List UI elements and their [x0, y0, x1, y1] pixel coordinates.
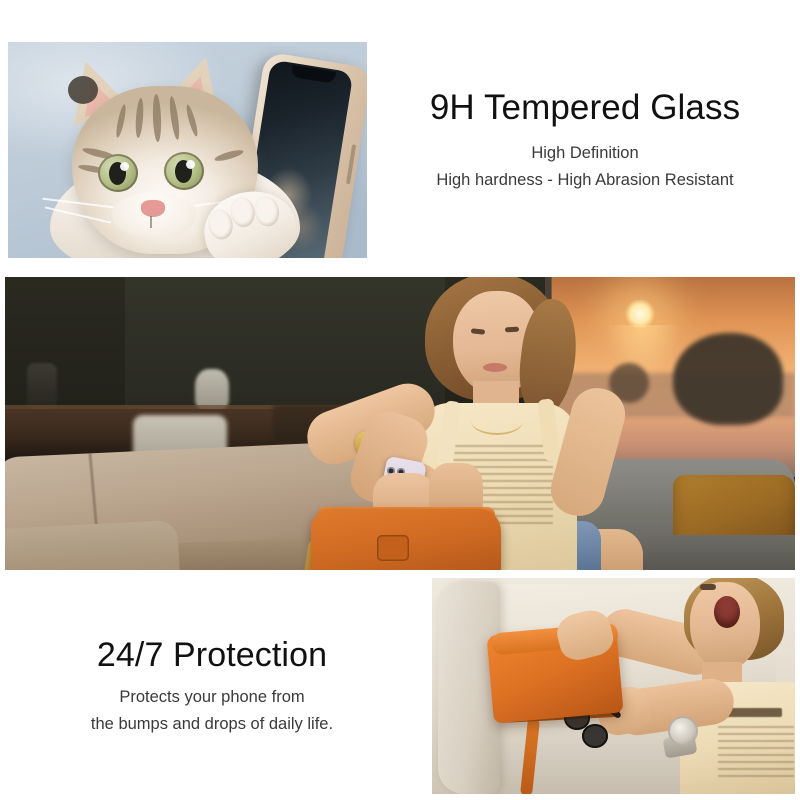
protection-headline: 24/7 Protection: [22, 636, 402, 674]
woman-open-mouth: [714, 596, 740, 628]
cat-eye-glint-left: [120, 162, 129, 171]
protection-feature-text: 24/7 Protection Protects your phone from…: [22, 636, 402, 738]
cat-eye-left: [98, 154, 138, 192]
woman-eye: [700, 584, 716, 590]
tempered-glass-feature-text: 9H Tempered Glass High Definition High h…: [382, 88, 788, 194]
protection-subline-1: Protects your phone from: [22, 684, 402, 711]
cat-eye-glint-right: [186, 160, 195, 169]
phone-side-button: [346, 144, 356, 184]
cat-mouth: [150, 216, 159, 228]
bag-spilling-phone-photo: [432, 578, 795, 794]
tempered-glass-headline: 9H Tempered Glass: [382, 88, 788, 127]
woman-eye-right: [505, 327, 519, 333]
product-feature-banner: 9H Tempered Glass High Definition High h…: [0, 0, 800, 800]
tank-top-brand-text: [726, 708, 782, 717]
tempered-glass-subline-2: High hardness - High Abrasion Resistant: [382, 167, 788, 194]
tank-top-printed-text: [718, 726, 794, 780]
phone-notch: [290, 65, 335, 84]
necklace: [471, 407, 523, 435]
tree-silhouette-large: [673, 333, 783, 425]
cat-nose: [141, 200, 165, 216]
cat-touching-phone-photo: [8, 42, 367, 258]
beige-sofa-arm: [5, 520, 181, 570]
tempered-glass-subline-1: High Definition: [382, 140, 788, 167]
bag-front-tab: [377, 535, 409, 561]
sunglasses-lens: [582, 724, 608, 748]
protection-subline-2: the bumps and drops of daily life.: [22, 711, 402, 738]
tempered-glass-sublines: High Definition High hardness - High Abr…: [382, 140, 788, 193]
decor-jar: [27, 363, 57, 411]
sun: [625, 299, 655, 329]
protection-sublines: Protects your phone from the bumps and d…: [22, 684, 402, 737]
woman-placing-phone-in-bag-photo: [5, 277, 795, 570]
woman-lips: [483, 363, 507, 372]
cat-eye-right: [164, 152, 204, 190]
cat-toe: [252, 194, 281, 228]
cat-paw-pad: [68, 76, 98, 104]
